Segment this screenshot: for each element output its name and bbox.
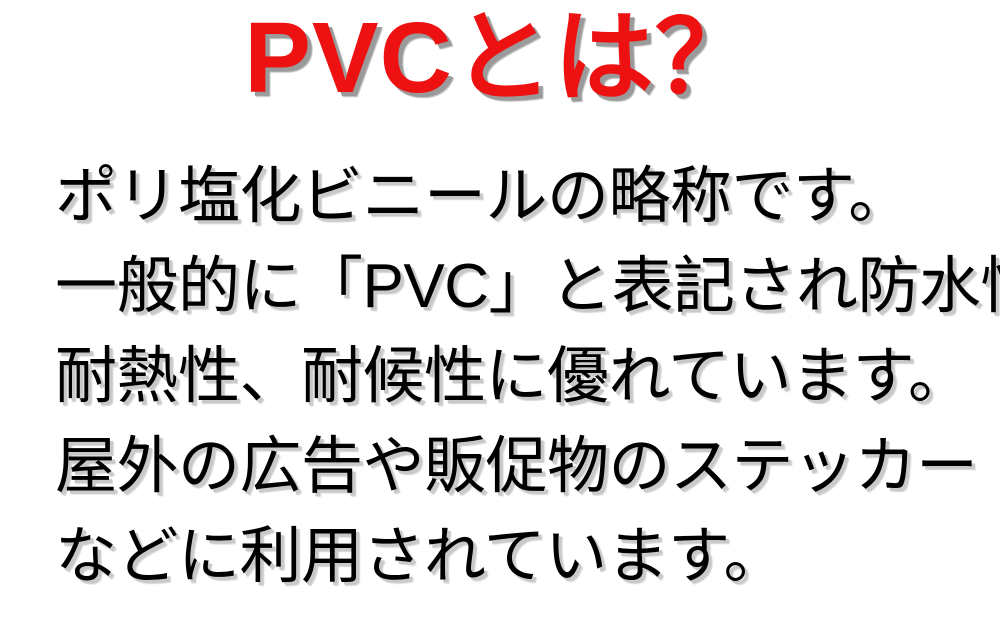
page-title: PVCとは？ (244, 2, 756, 114)
slide-canvas: PVCとは？ ポリ塩化ビニールの略称です。 一般的に「PVC」と表記され防水性、… (0, 0, 1000, 628)
body-text-container: ポリ塩化ビニールの略称です。 一般的に「PVC」と表記され防水性、 耐熱性、耐候… (55, 152, 985, 602)
body-line-4: 屋外の広告や販促物のステッカー (55, 422, 985, 512)
body-line-1: ポリ塩化ビニールの略称です。 (55, 152, 985, 242)
body-line-2: 一般的に「PVC」と表記され防水性、 (55, 242, 985, 332)
body-line-5: などに利用されています。 (55, 512, 985, 602)
body-line-3: 耐熱性、耐候性に優れています。 (55, 332, 985, 422)
title-container: PVCとは？ (0, 2, 1000, 114)
